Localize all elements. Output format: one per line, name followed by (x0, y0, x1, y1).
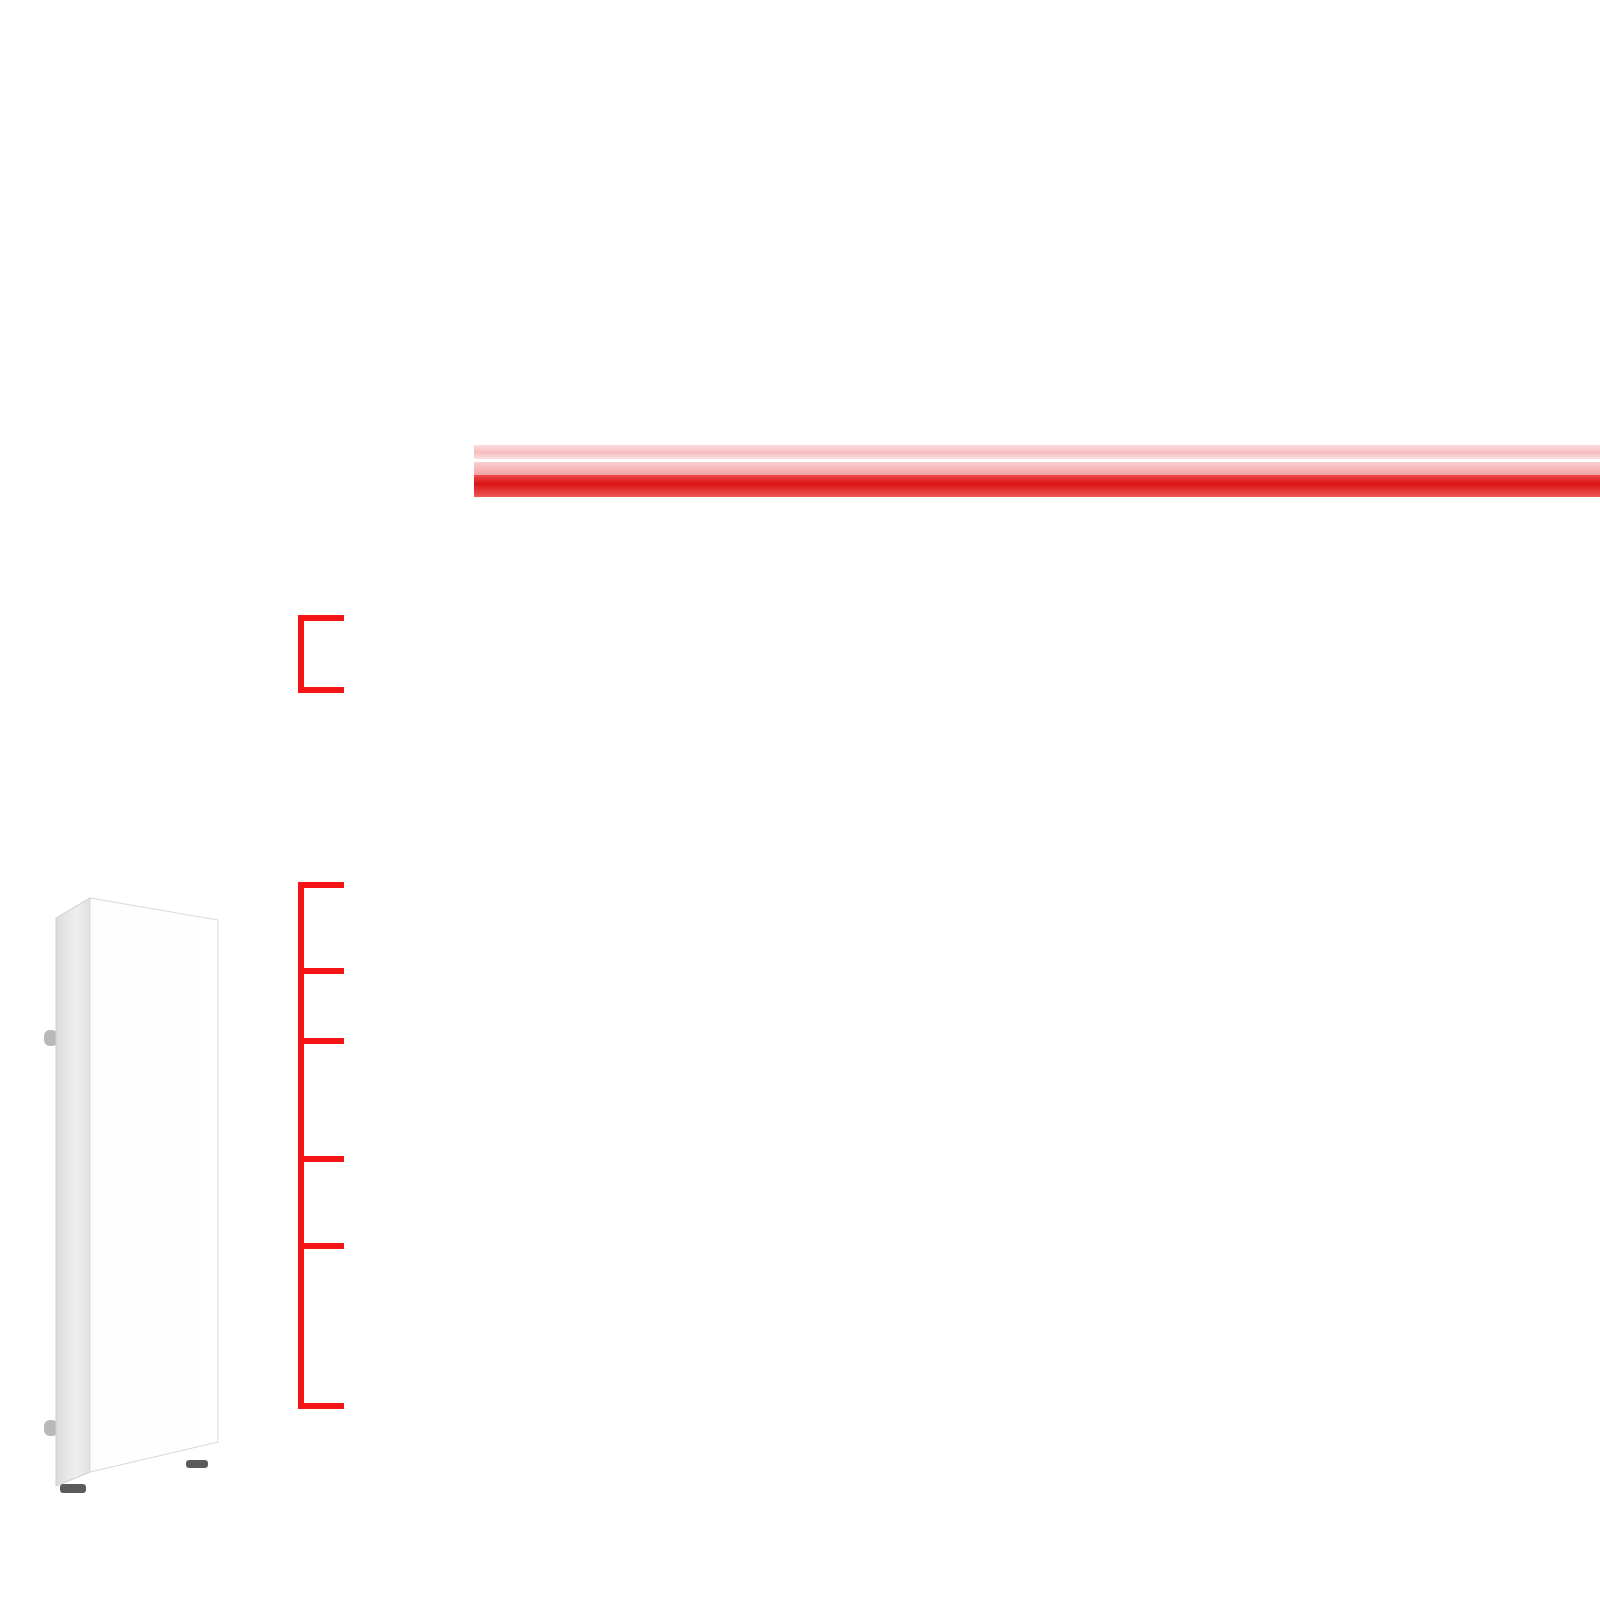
bracket-our-tick-940 (298, 1243, 344, 1249)
bracket-other-arm-bottom (298, 687, 344, 693)
wavelength-penetration-chart (0, 0, 1600, 1600)
bracket-our-tick-1060 (298, 1403, 344, 1409)
bracket-our-tick-850 (298, 1156, 344, 1162)
bracket-other-arm-top (298, 615, 344, 621)
bracket-our (298, 882, 344, 1409)
bracket-our-tick-660 (298, 968, 344, 974)
skin-layer-bar (474, 445, 1600, 497)
bracket-other (298, 615, 344, 693)
bracket-our-tick-630 (298, 882, 344, 888)
bracket-our-tick-810 (298, 1038, 344, 1044)
bracket-other-spine (298, 615, 304, 693)
bracket-our-spine (298, 882, 304, 1409)
